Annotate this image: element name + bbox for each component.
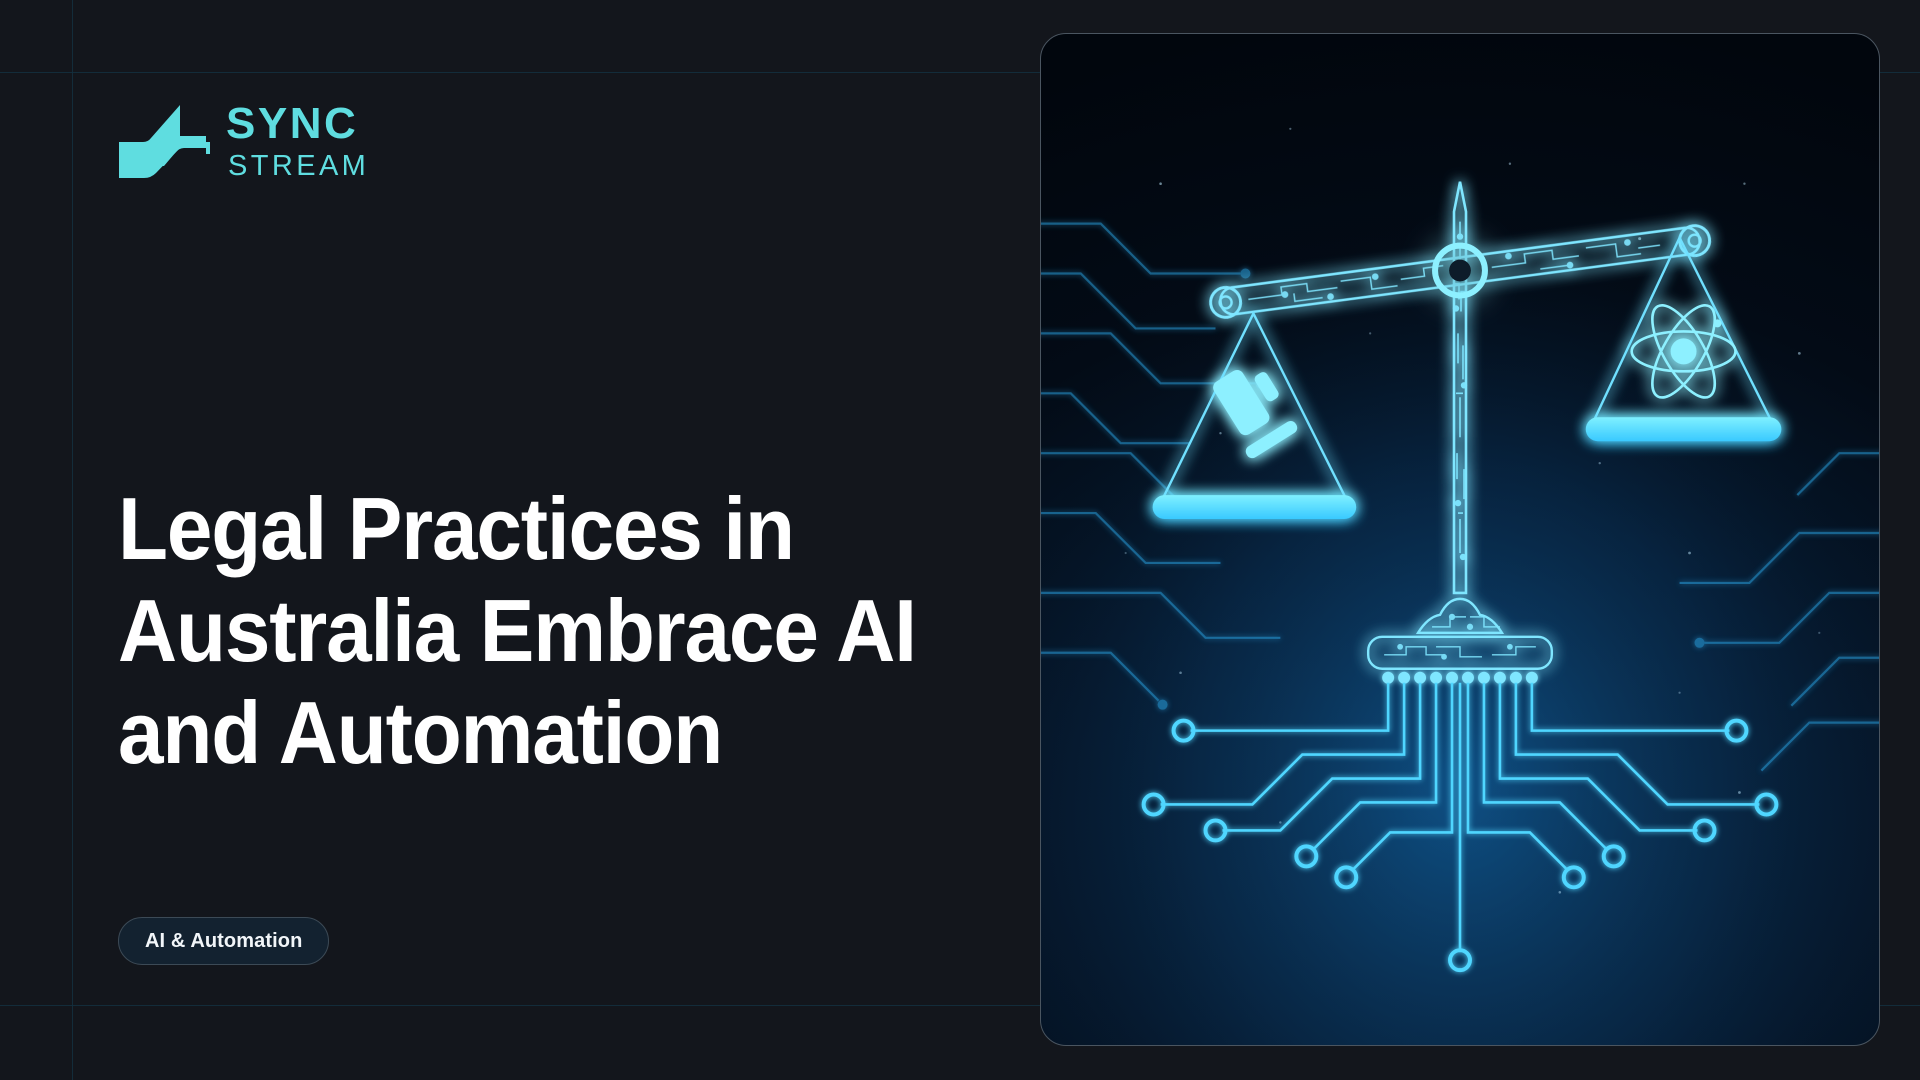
brand-logo[interactable]: SYNC STREAM [118, 100, 369, 181]
brand-wordmark: SYNC STREAM [226, 100, 369, 181]
brand-name-line1: SYNC [226, 102, 369, 146]
syncstream-chevron-mark-icon [118, 102, 210, 180]
badge-row: AI & Automation [118, 917, 329, 965]
page-title: Legal Practices in Australia Embrace AI … [118, 478, 936, 784]
category-badge[interactable]: AI & Automation [118, 917, 329, 965]
left-content-column: SYNC STREAM Legal Practices in Australia… [0, 0, 1040, 1080]
brand-name-line2: STREAM [228, 152, 369, 181]
ai-justice-scale-illustration [1041, 34, 1879, 1045]
hero-illustration-panel [1040, 33, 1880, 1046]
slide-canvas: SYNC STREAM Legal Practices in Australia… [0, 0, 1920, 1080]
